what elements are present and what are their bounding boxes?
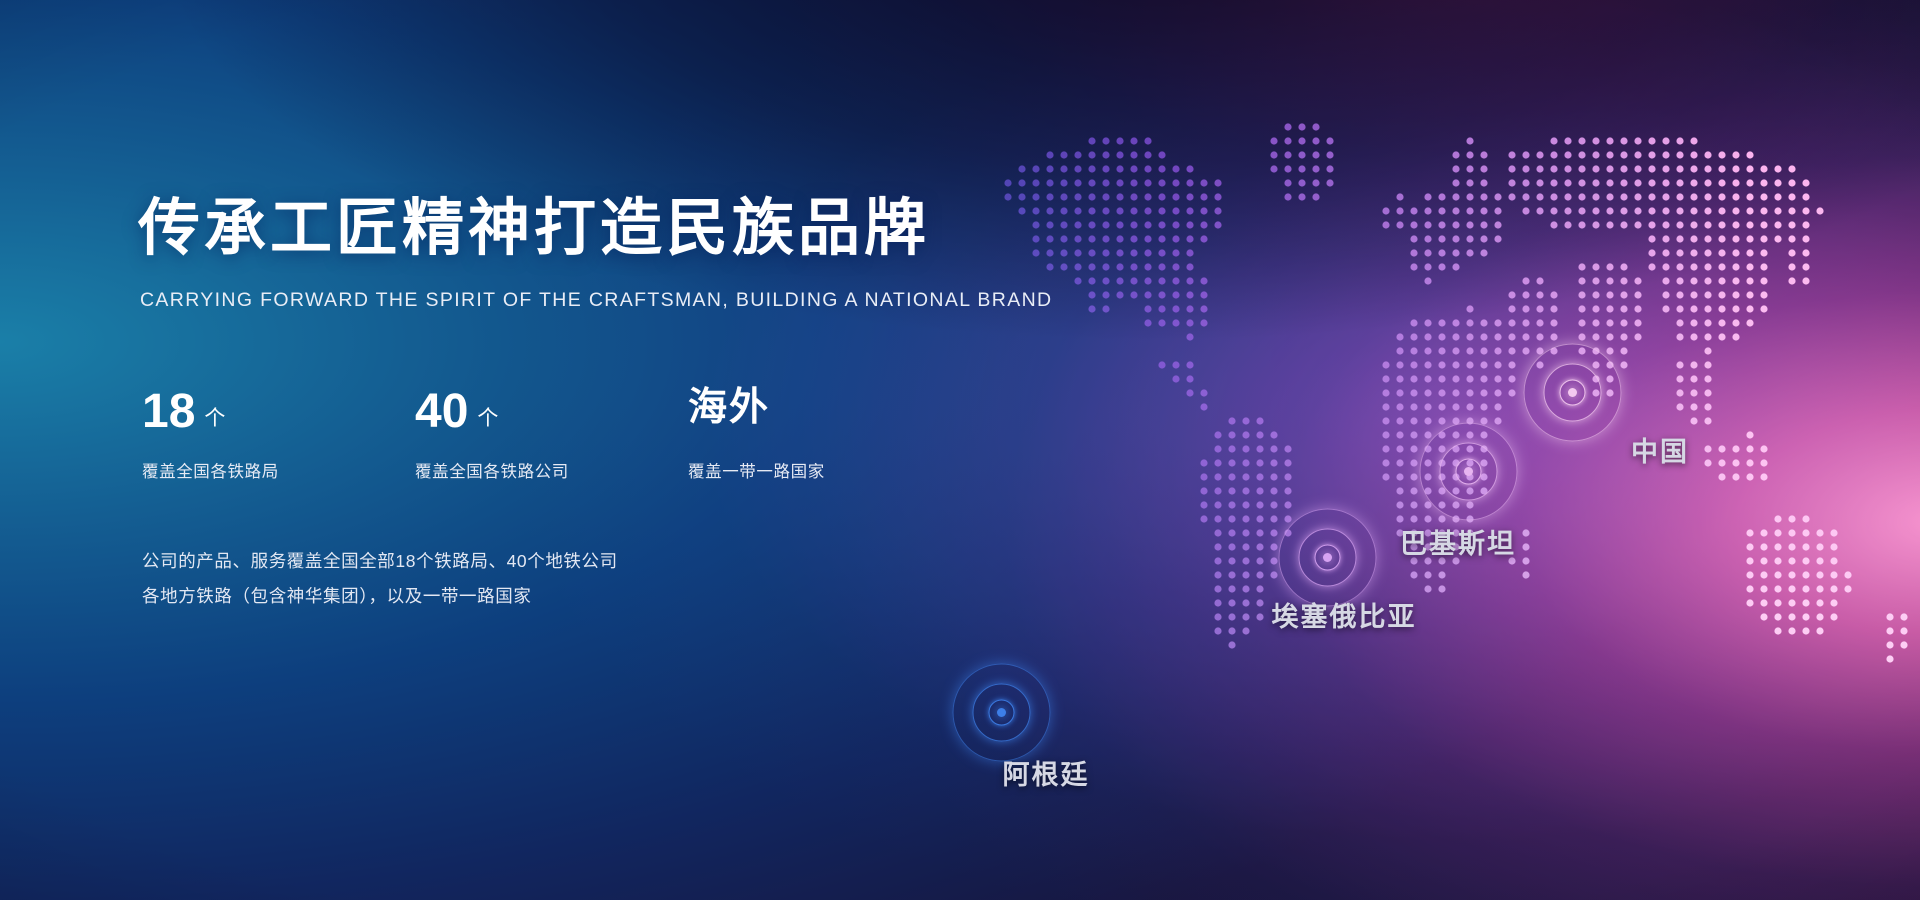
stat-item-railway-companies: 40 个 覆盖全国各铁路公司 xyxy=(415,388,688,482)
stat-unit: 个 xyxy=(477,402,498,432)
page-subtitle: CARRYING FORWARD THE SPIRIT OF THE CRAFT… xyxy=(140,289,998,312)
stat-number: 18 xyxy=(142,388,195,436)
page-title: 传承工匠精神打造民族品牌 xyxy=(138,196,998,261)
hero-content: 传承工匠精神打造民族品牌 CARRYING FORWARD THE SPIRIT… xyxy=(138,196,998,614)
stat-value-group: 18 个 xyxy=(142,388,415,442)
description-line-1: 公司的产品、服务覆盖全国全部18个铁路局、40个地铁公司 xyxy=(142,544,998,579)
stat-label: 覆盖一带一路国家 xyxy=(688,458,825,482)
stat-item-railway-bureaus: 18 个 覆盖全国各铁路局 xyxy=(142,388,415,482)
description-paragraph: 公司的产品、服务覆盖全国全部18个铁路局、40个地铁公司 各地方铁路（包含神华集… xyxy=(142,544,998,614)
hero-banner: 中国巴基斯坦埃塞俄比亚阿根廷 传承工匠精神打造民族品牌 CARRYING FOR… xyxy=(0,0,1920,900)
stat-label: 覆盖全国各铁路局 xyxy=(142,458,415,482)
stat-unit: 个 xyxy=(204,402,225,432)
stat-value-group: 40 个 xyxy=(415,388,688,442)
stat-number: 海外 xyxy=(688,388,770,427)
stat-value-group: 海外 xyxy=(688,388,825,442)
stat-number: 40 xyxy=(415,388,468,436)
stat-label: 覆盖全国各铁路公司 xyxy=(415,458,688,482)
stat-item-overseas: 海外 覆盖一带一路国家 xyxy=(688,388,825,482)
description-line-2: 各地方铁路（包含神华集团），以及一带一路国家 xyxy=(142,579,998,614)
statistics-row: 18 个 覆盖全国各铁路局 40 个 覆盖全国各铁路公司 海外 覆盖一带一路国家 xyxy=(142,388,998,482)
